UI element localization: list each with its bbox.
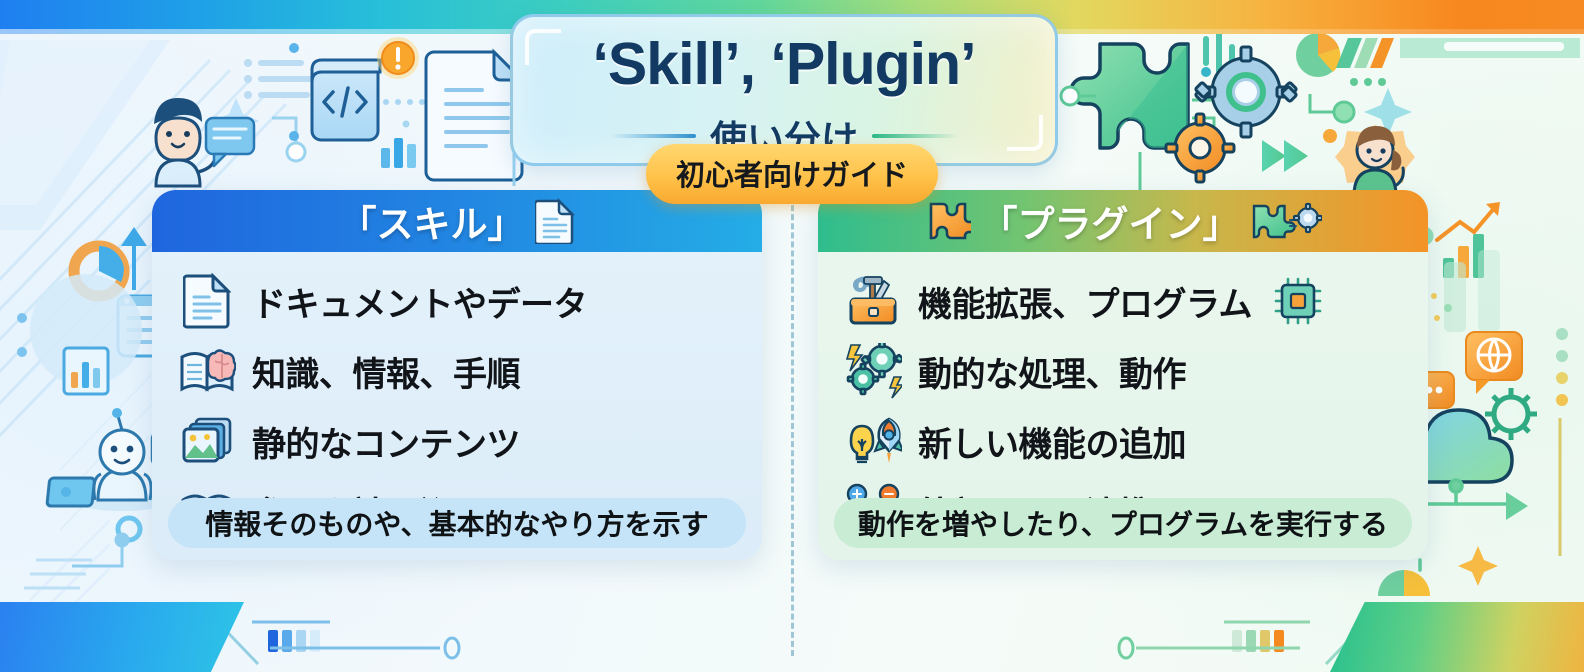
subtitle-rule-right [872,134,958,138]
panel-skill: 「スキル」 [152,190,762,560]
image-stack-icon [178,412,236,470]
node-connector-left [272,118,305,161]
dots-column-right [1556,328,1568,406]
bar-chart-left [64,348,108,394]
bulb-rocket-icon [844,412,902,470]
gear-small-icon [1166,114,1234,182]
panel-plugin-title: 「プラグイン」 [981,194,1240,248]
list-item: 機能拡張、プログラム [844,266,1410,336]
puzzle-piece-icon [925,198,971,244]
arrow-right-icon [1506,492,1528,520]
gear-large-icon [1195,47,1297,137]
list-item-label: 動的な処理、動作 [918,347,1186,396]
arrow-cluster-right [1262,140,1308,172]
dots-right-top [1350,78,1386,86]
audience-badge: 初心者向けガイド [646,144,938,204]
subtitle-rule-left [610,134,696,138]
document-icon [178,272,236,330]
node-right-top [1310,94,1354,122]
list-item: 静的なコンテンツ [178,406,744,476]
page-title: ‘Skill’, ‘Plugin’ [513,35,1055,94]
list-item-label: ドキュメントやデータ [252,277,587,326]
list-item: 動的な処理、動作 [844,336,1410,406]
document-illustration [426,52,522,180]
list-item-label: 知識、情報、手順 [252,347,520,396]
stripes-top-right [1336,38,1580,68]
bottom-right-accent [1328,602,1584,672]
pie-chart-right [1296,33,1340,77]
bottom-left-accent [0,602,244,672]
puzzle-piece-illustration [1071,44,1188,148]
robot-character-illustration [47,408,168,511]
globe-bubble-icon [1466,332,1522,394]
gear-outline-right [1485,388,1537,440]
dotted-line-decoration [383,99,437,128]
panel-divider [791,196,794,656]
bar-chart-right [1437,202,1500,278]
panel-plugin: 「プラグイン」 [818,190,1428,560]
list-item-label: 新しい機能の追加 [918,417,1186,466]
cpu-chip-icon [1274,277,1322,325]
list-item: ドキュメントやデータ [178,266,744,336]
panel-skill-summary: 情報そのものや、基本的なやり方を示す [168,498,746,548]
boy-character-illustration [154,98,254,186]
infographic-canvas: ‘Skill’, ‘Plugin’ 使い分け 初心者向けガイド 「スキル」 [0,0,1584,672]
hatch-lines-left [24,560,92,588]
list-lines-decoration [244,59,320,99]
panel-plugin-summary: 動作を増やしたり、プログラムを実行する [834,498,1412,548]
toolbox-icon [844,272,902,330]
list-item: 知識、情報、手順 [178,336,744,406]
sparkle-right-icon [1364,88,1412,136]
code-book-icon [312,60,380,140]
panel-skill-title: 「スキル」 [340,194,525,248]
warning-badge-icon [377,37,419,79]
up-arrow-left [121,227,147,324]
quarter-pie-bottom-right [1378,570,1430,596]
puzzle-gear-icon [1250,198,1322,244]
list-item-label: 静的なコンテンツ [252,417,520,466]
pie-chart-left [74,246,124,296]
list-item: 新しい機能の追加 [844,406,1410,476]
puzzle-connector [1061,62,1222,196]
mini-bar-chart-left [381,138,416,168]
open-book-brain-icon [178,342,236,400]
sparkle-icon [213,98,259,144]
cloud-connector [1420,480,1508,570]
document-icon [535,198,575,244]
gears-bolt-icon [844,342,902,400]
list-item-label: 機能拡張、プログラム [918,277,1252,326]
woman-character-illustration [1335,125,1415,196]
sparkle-bottom-icon [1458,546,1498,586]
left-bottom-connector [72,534,128,566]
